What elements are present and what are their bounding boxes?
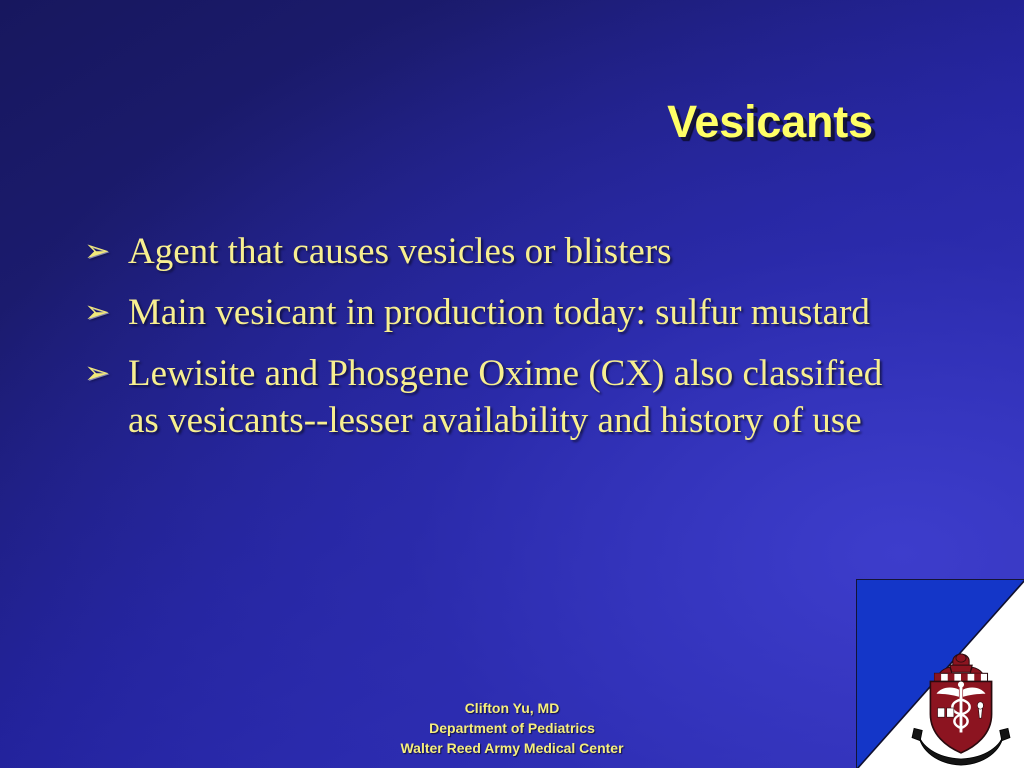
bullet-text: Agent that causes vesicles or blisters [128, 228, 914, 275]
arrow-bullet-icon: ➢ [84, 228, 128, 275]
institution-logo [856, 579, 1024, 768]
walter-reed-crest-icon [857, 580, 1024, 768]
bullet-text: Main vesicant in production today: sulfu… [128, 289, 914, 336]
arrow-bullet-icon: ➢ [84, 289, 128, 336]
list-item: ➢ Lewisite and Phosgene Oxime (CX) also … [84, 350, 914, 444]
bullet-list: ➢ Agent that causes vesicles or blisters… [84, 228, 914, 458]
list-item: ➢ Agent that causes vesicles or blisters [84, 228, 914, 275]
bullet-text: Lewisite and Phosgene Oxime (CX) also cl… [128, 350, 914, 444]
slide-title: Vesicants [560, 98, 980, 145]
presentation-slide: Vesicants ➢ Agent that causes vesicles o… [0, 0, 1024, 768]
arrow-bullet-icon: ➢ [84, 350, 128, 397]
list-item: ➢ Main vesicant in production today: sul… [84, 289, 914, 336]
